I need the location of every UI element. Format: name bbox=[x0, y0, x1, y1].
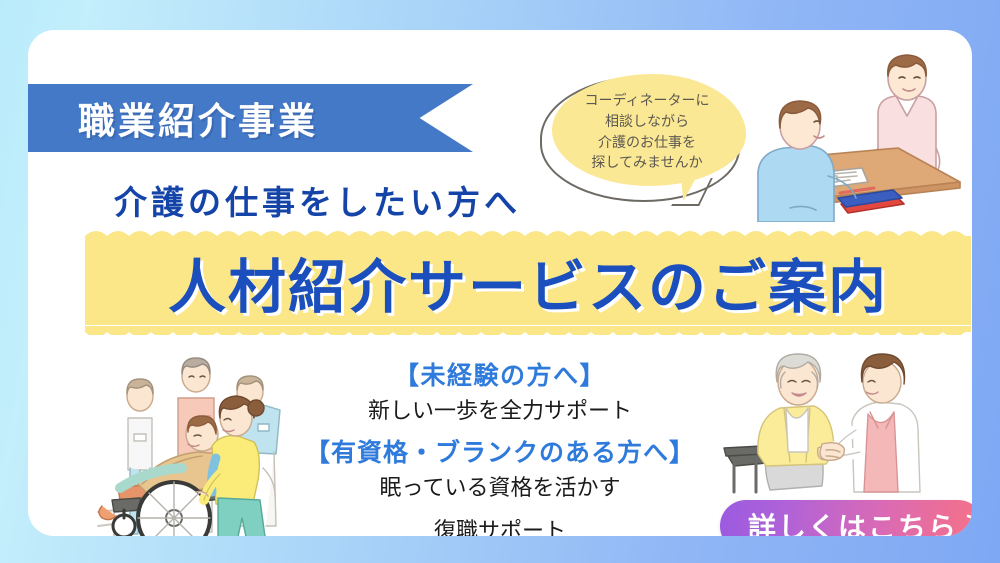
consultation-desk-illustration bbox=[728, 52, 972, 222]
ribbon-badge: 職業紹介事業 bbox=[28, 84, 473, 152]
bubble-line-3: 介護のお仕事を bbox=[598, 133, 696, 153]
speech-bubble-text: コーディネーターに 相談しながら 介護のお仕事を 探してみませんか bbox=[548, 74, 746, 190]
ribbon-label: 職業紹介事業 bbox=[78, 91, 318, 145]
title-band: 人材紹介サービスのご案内 bbox=[85, 229, 971, 335]
bubble-line-4: 探してみませんか bbox=[591, 153, 702, 173]
benefit-sub-1-line-1: 新しい一歩を全力サポート bbox=[28, 394, 972, 427]
bubble-line-1: コーディネーターに bbox=[584, 91, 709, 111]
details-cta-button[interactable]: 詳しくはこちら bbox=[720, 500, 972, 536]
pointing-hand-click-icon bbox=[964, 504, 972, 536]
sub-headline: 介護の仕事をしたい方へ bbox=[114, 176, 521, 224]
band-title: 人材紹介サービスのご案内 bbox=[85, 229, 971, 335]
benefit-highlight-1: 【未経験の方へ】 bbox=[28, 360, 972, 394]
promo-banner: 職業紹介事業 介護の仕事をしたい方へ コーディネーターに 相談しながら 介護のお… bbox=[0, 0, 1000, 563]
bubble-line-2: 相談しながら bbox=[605, 112, 689, 132]
benefit-sub-2-line-1: 眠っている資格を活かす bbox=[28, 471, 972, 504]
benefit-highlight-2: 【有資格・ブランクのある方へ】 bbox=[28, 437, 972, 471]
cta-label: 詳しくはこちら bbox=[748, 506, 958, 536]
speech-bubble: コーディネーターに 相談しながら 介護のお仕事を 探してみませんか bbox=[548, 74, 746, 190]
white-card: 職業紹介事業 介護の仕事をしたい方へ コーディネーターに 相談しながら 介護のお… bbox=[28, 30, 972, 536]
